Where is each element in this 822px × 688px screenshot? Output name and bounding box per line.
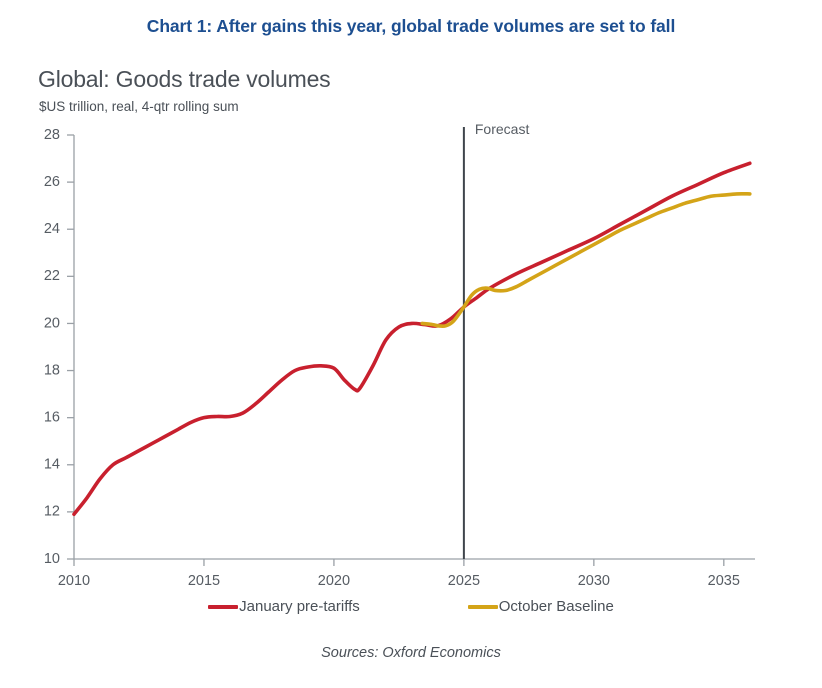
y-tick-label: 22 [44, 268, 60, 284]
y-tick-label: 24 [44, 221, 60, 237]
legend-swatch-icon [468, 605, 498, 609]
legend-item-january-pre-tariffs[interactable]: January pre-tariffs [208, 598, 360, 615]
legend-label: October Baseline [498, 598, 614, 615]
y-tick-label: 26 [44, 174, 60, 190]
y-tick-label: 10 [44, 551, 60, 567]
y-axis: 10121416182022242628 [44, 127, 74, 567]
x-tick-label: 2020 [318, 573, 350, 589]
source-note: Sources: Oxford Economics [0, 645, 822, 661]
x-axis: 201020152020202520302035 [58, 559, 755, 589]
y-tick-label: 14 [44, 457, 60, 473]
y-tick-label: 12 [44, 504, 60, 520]
forecast-label: Forecast [475, 121, 530, 137]
x-tick-label: 2035 [708, 573, 740, 589]
x-tick-label: 2015 [188, 573, 220, 589]
x-tick-label: 2025 [448, 573, 480, 589]
plot-area: 10121416182022242628 2010201520202025203… [0, 0, 822, 688]
chart-container: Chart 1: After gains this year, global t… [0, 0, 822, 688]
y-tick-label: 16 [44, 409, 60, 425]
y-tick-label: 20 [44, 315, 60, 331]
legend-item-october-baseline[interactable]: October Baseline [468, 598, 614, 615]
y-tick-label: 28 [44, 127, 60, 143]
data-series [74, 163, 750, 514]
x-tick-label: 2030 [578, 573, 610, 589]
x-tick-label: 2010 [58, 573, 90, 589]
legend-swatch-icon [208, 605, 238, 609]
series-line-october-baseline [422, 194, 750, 326]
y-tick-label: 18 [44, 362, 60, 378]
legend-label: January pre-tariffs [238, 598, 360, 615]
forecast-divider: Forecast [464, 121, 530, 559]
legend: January pre-tariffs October Baseline [0, 598, 822, 615]
